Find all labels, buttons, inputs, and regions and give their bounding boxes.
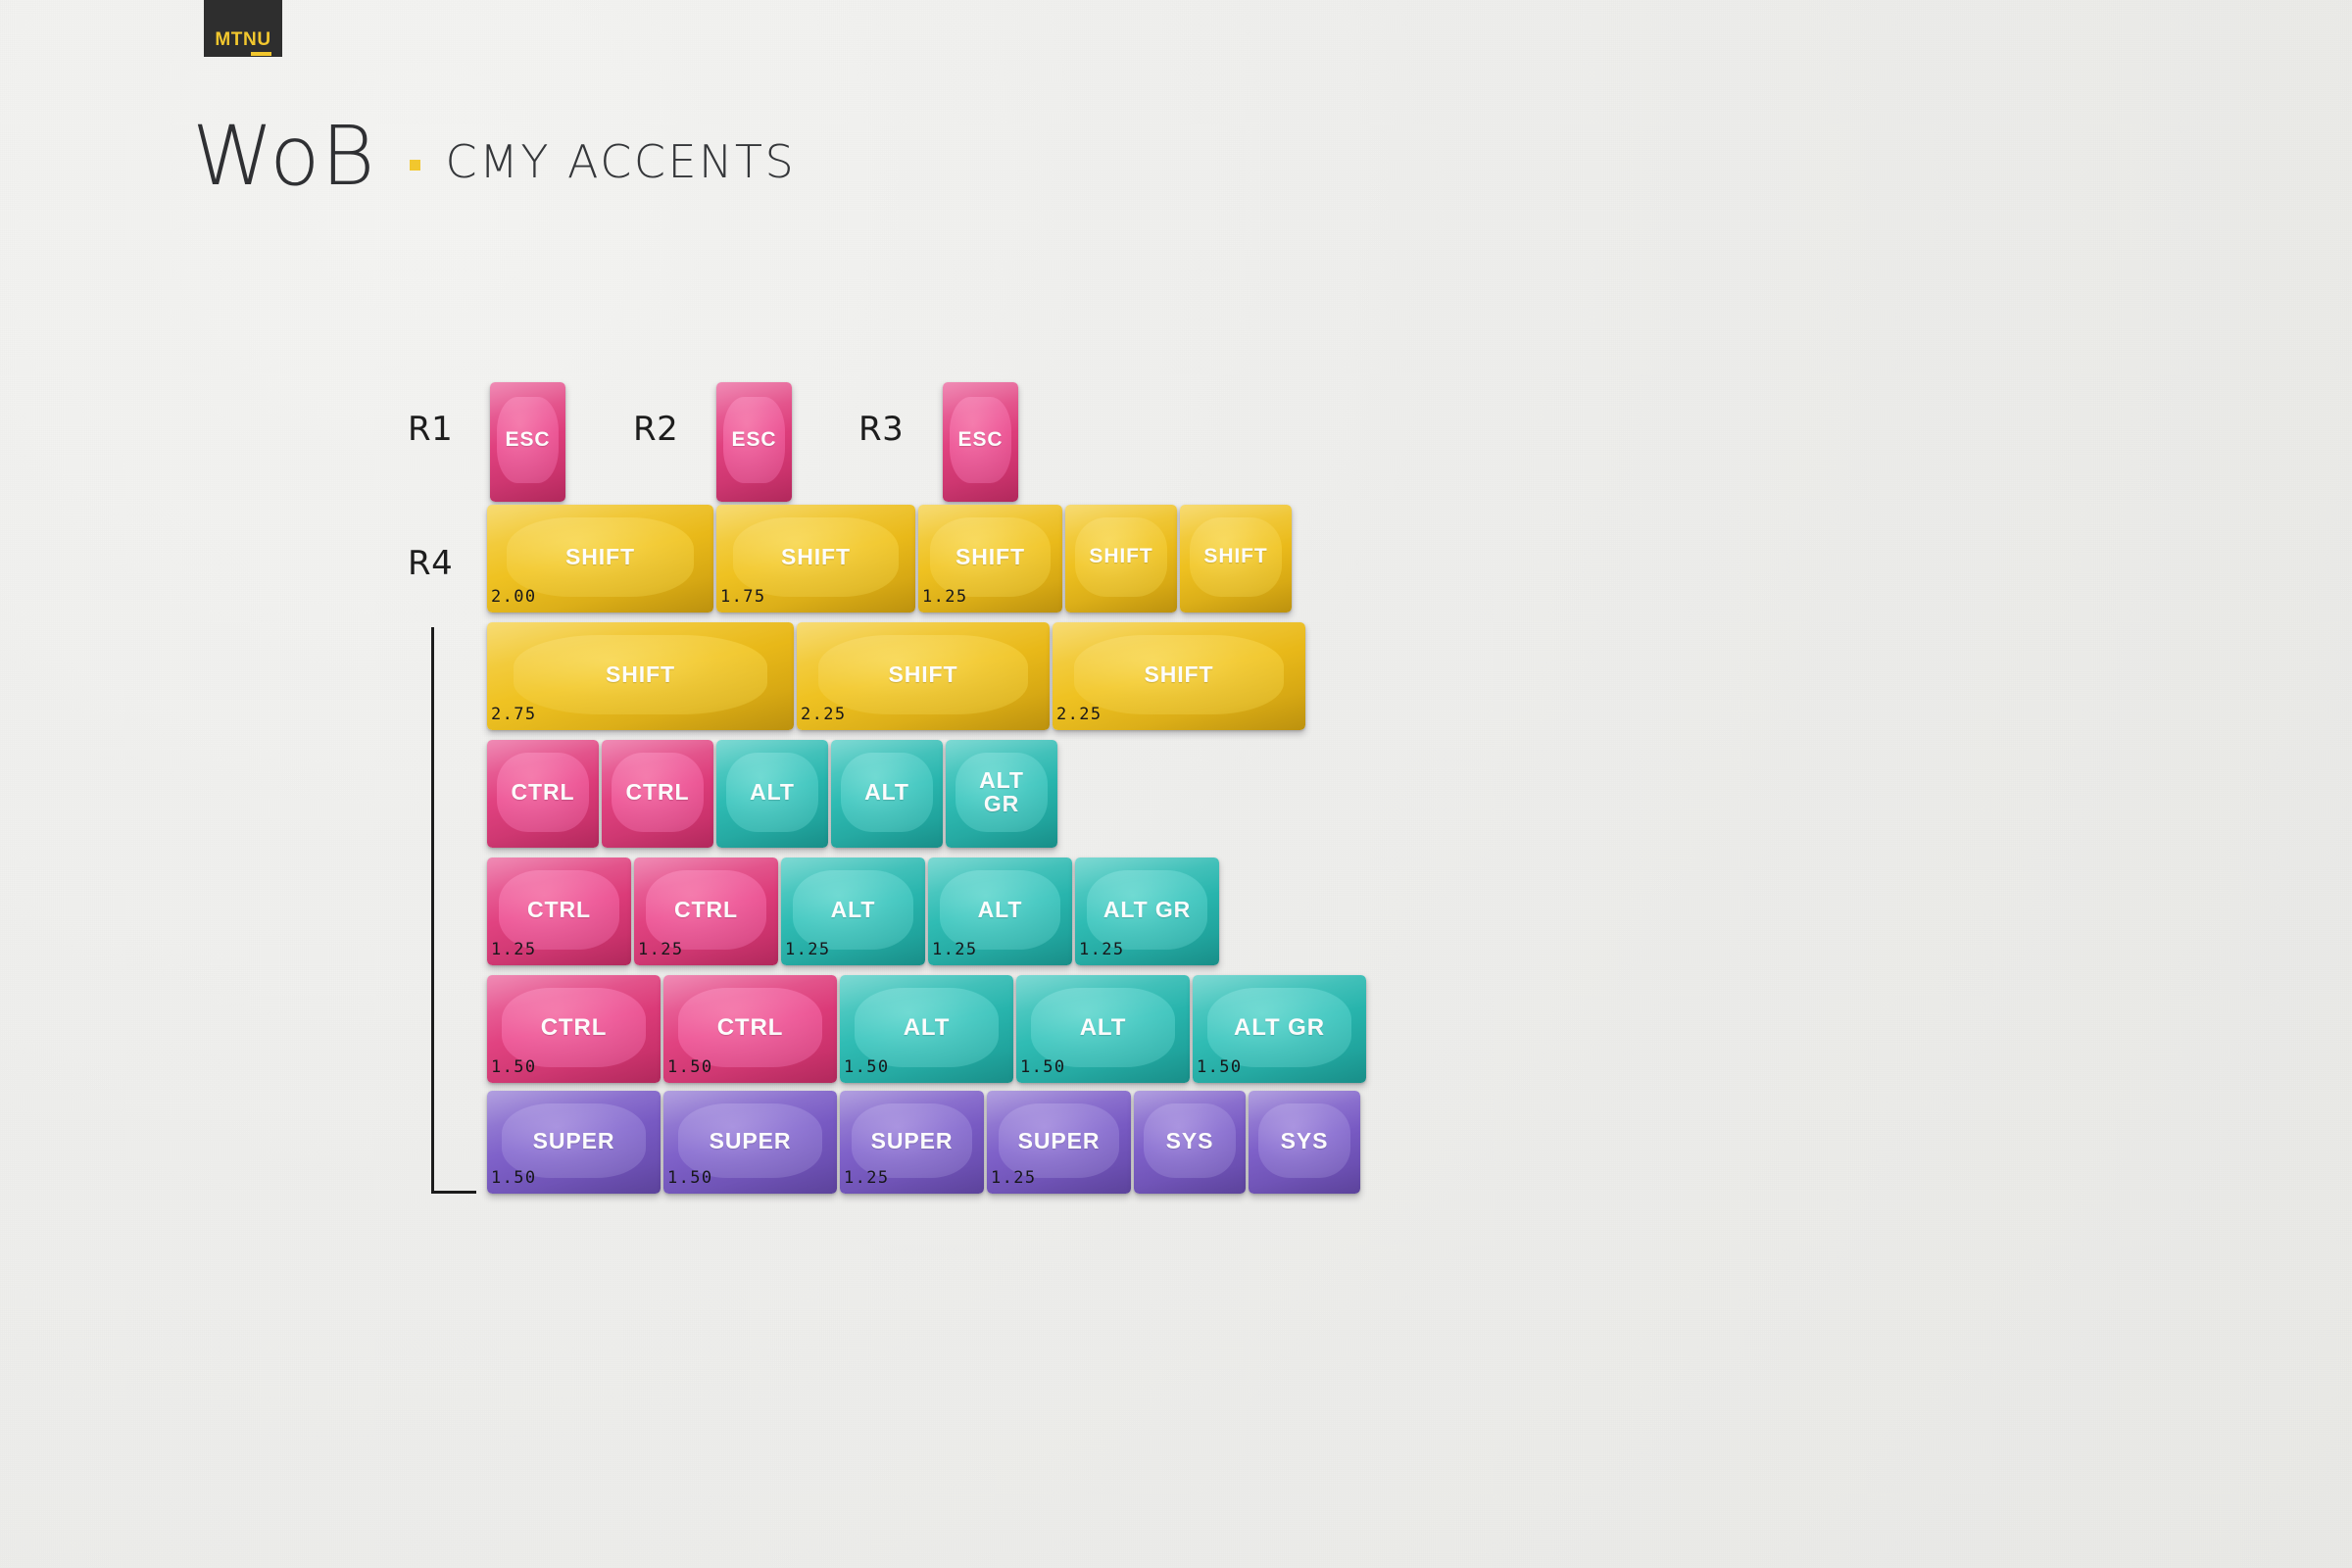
- keycap-top-surface: ESC: [497, 397, 559, 483]
- keycap-top-surface: ESC: [950, 397, 1011, 483]
- keycap-legend: CTRL: [512, 780, 575, 804]
- row-label-r3: R3: [858, 410, 904, 449]
- keycap-body: ESC: [490, 382, 565, 502]
- keycap-legend: ALT GR: [1234, 1015, 1325, 1040]
- keycap-legend: ESC: [506, 429, 551, 451]
- keycap-top-surface: ALT: [793, 870, 913, 950]
- keycap-top-surface: SYS: [1144, 1103, 1236, 1178]
- keycap-size-label: 2.00: [491, 587, 537, 607]
- keycap-top-surface: ALT GR: [1207, 988, 1351, 1067]
- keycap-size-label: 1.25: [1079, 940, 1125, 959]
- keycap-top-surface: SHIFT: [514, 635, 767, 714]
- keycap-legend: SHIFT: [1145, 662, 1214, 686]
- keycap-legend: CTRL: [717, 1015, 784, 1040]
- keycap-body: CTRL: [602, 740, 713, 848]
- keycap-top-surface: SUPER: [852, 1103, 972, 1178]
- row-label-r4: R4: [408, 544, 453, 583]
- keycap-ctrl[interactable]: CTRL: [602, 740, 713, 848]
- keycap-size-label: 1.25: [991, 1168, 1037, 1188]
- keycap-top-surface: SHIFT: [1074, 635, 1284, 714]
- keycap-size-label: 2.75: [491, 705, 537, 724]
- mtnu-logo-label: MTNU: [215, 29, 270, 50]
- keycap-size-label: 1.25: [785, 940, 831, 959]
- keycap-size-label: 1.75: [720, 587, 766, 607]
- keycap-size-label: 1.25: [638, 940, 684, 959]
- keycap-top-surface: SUPER: [678, 1103, 822, 1178]
- keycap-legend: CTRL: [674, 898, 738, 921]
- keycap-top-surface: ALTGR: [955, 753, 1048, 832]
- keycap-size-label: 1.25: [932, 940, 978, 959]
- keycap-legend: ALT: [750, 780, 795, 804]
- keycap-body: SYS: [1249, 1091, 1360, 1194]
- keycap-top-surface: SUPER: [999, 1103, 1119, 1178]
- keycap-size-label: 1.25: [844, 1168, 890, 1188]
- keycap-size-label: 1.50: [1020, 1057, 1066, 1077]
- keycap-legend: ALT: [1080, 1015, 1127, 1040]
- keycap-shift[interactable]: SHIFT: [1180, 505, 1292, 612]
- keycap-legend: ALT: [831, 898, 876, 921]
- keycap-top-surface: ALT: [1031, 988, 1175, 1067]
- keycap-top-surface: CTRL: [502, 988, 646, 1067]
- keycap-top-surface: CTRL: [499, 870, 619, 950]
- poster-title: WoB CMY ACCENTS: [192, 118, 796, 196]
- keycap-legend: ALT GR: [1103, 898, 1191, 921]
- keycap-legend: CTRL: [626, 780, 690, 804]
- mtnu-logo-underline-bar: [251, 52, 271, 56]
- keycap-top-surface: CTRL: [646, 870, 766, 950]
- row-group-bracket: [431, 627, 476, 1194]
- keycap-body: SHIFT: [1065, 505, 1177, 612]
- keycap-top-surface: CTRL: [497, 753, 589, 832]
- keycap-esc[interactable]: ESC: [490, 382, 565, 502]
- keycap-legend: SUPER: [871, 1129, 954, 1152]
- keycap-legend: SUPER: [533, 1129, 615, 1152]
- keycap-legend: SHIFT: [889, 662, 958, 686]
- keycap-top-surface: ALT: [841, 753, 933, 832]
- keycap-size-label: 2.25: [1056, 705, 1102, 724]
- keycap-alt[interactable]: ALT: [716, 740, 828, 848]
- keycap-legend: CTRL: [541, 1015, 608, 1040]
- keycap-legend: CTRL: [527, 898, 591, 921]
- keycap-top-surface: CTRL: [678, 988, 822, 1067]
- keycap-top-surface: SUPER: [502, 1103, 646, 1178]
- keycap-size-label: 1.25: [491, 940, 537, 959]
- keycap-top-surface: ALT: [940, 870, 1060, 950]
- keycap-legend: SYS: [1166, 1129, 1214, 1152]
- keycap-legend: SHIFT: [1203, 546, 1267, 567]
- keycap-size-label: 1.50: [844, 1057, 890, 1077]
- keycap-legend: ALT: [904, 1015, 951, 1040]
- keycap-legend: SHIFT: [781, 545, 851, 568]
- keycap-top-surface: SYS: [1258, 1103, 1350, 1178]
- row-label-r2: R2: [633, 410, 678, 449]
- paper-grain-texture: [0, 0, 2352, 1568]
- page-subtitle: CMY ACCENTS: [446, 135, 797, 188]
- keycap-top-surface: ESC: [723, 397, 785, 483]
- keycap-body: ALT: [716, 740, 828, 848]
- keycap-legend: SHIFT: [1089, 546, 1152, 567]
- keycap-size-label: 1.50: [667, 1057, 713, 1077]
- keycap-top-surface: SHIFT: [930, 517, 1051, 597]
- keycap-legend: SUPER: [1018, 1129, 1101, 1152]
- mtnu-logo: MTNU: [204, 0, 282, 57]
- keycap-esc[interactable]: ESC: [943, 382, 1018, 502]
- keycap-alt[interactable]: ALT: [831, 740, 943, 848]
- mtnu-logo-text: MTNU: [215, 30, 270, 49]
- keycap-body: CTRL: [487, 740, 599, 848]
- keycap-legend: ESC: [732, 429, 777, 451]
- keycap-size-label: 2.25: [801, 705, 847, 724]
- keycap-legend: ALT: [978, 898, 1023, 921]
- keycap-legend: SHIFT: [606, 662, 675, 686]
- keycap-alt-gr[interactable]: ALTGR: [946, 740, 1057, 848]
- keycap-legend: ESC: [958, 429, 1004, 451]
- keycap-legend: SHIFT: [565, 545, 635, 568]
- keycap-legend: SHIFT: [955, 545, 1025, 568]
- keycap-legend: SYS: [1281, 1129, 1329, 1152]
- keycap-top-surface: SHIFT: [507, 517, 694, 597]
- keycap-top-surface: SHIFT: [818, 635, 1028, 714]
- keycap-body: ALTGR: [946, 740, 1057, 848]
- page-title: WoB: [192, 118, 376, 196]
- keycap-esc[interactable]: ESC: [716, 382, 792, 502]
- keycap-body: ESC: [943, 382, 1018, 502]
- keycap-top-surface: SHIFT: [733, 517, 899, 597]
- keycap-shift[interactable]: SHIFT: [1065, 505, 1177, 612]
- keycap-sys[interactable]: SYS: [1249, 1091, 1360, 1194]
- keycap-top-surface: ALT GR: [1087, 870, 1207, 950]
- keycap-body: ALT: [831, 740, 943, 848]
- keycap-legend: ALT: [864, 780, 909, 804]
- keycap-body: ESC: [716, 382, 792, 502]
- keycap-top-surface: CTRL: [612, 753, 704, 832]
- title-separator-dot-icon: [410, 160, 420, 171]
- poster-canvas: MTNU WoB CMY ACCENTS R1R2R3R4ESCESCESCSH…: [0, 0, 2352, 1568]
- keycap-top-surface: ALT: [726, 753, 818, 832]
- row-label-r1: R1: [408, 410, 453, 449]
- keycap-top-surface: SHIFT: [1075, 517, 1167, 597]
- keycap-top-surface: ALT: [855, 988, 999, 1067]
- keycap-sys[interactable]: SYS: [1134, 1091, 1246, 1194]
- keycap-size-label: 1.50: [491, 1168, 537, 1188]
- keycap-top-surface: SHIFT: [1190, 517, 1282, 597]
- keycap-size-label: 1.50: [1197, 1057, 1243, 1077]
- keycap-size-label: 1.25: [922, 587, 968, 607]
- keycap-legend: SUPER: [710, 1129, 792, 1152]
- keycap-legend: ALTGR: [979, 769, 1024, 815]
- keycap-body: SYS: [1134, 1091, 1246, 1194]
- keycap-size-label: 1.50: [491, 1057, 537, 1077]
- keycap-size-label: 1.50: [667, 1168, 713, 1188]
- keycap-body: SHIFT: [1180, 505, 1292, 612]
- keycap-ctrl[interactable]: CTRL: [487, 740, 599, 848]
